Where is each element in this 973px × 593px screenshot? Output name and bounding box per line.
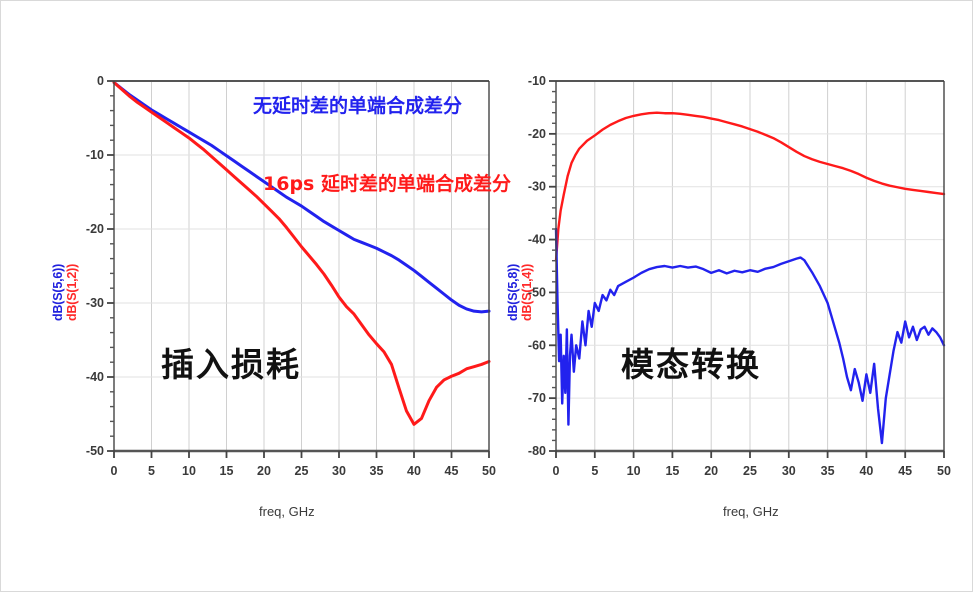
svg-text:35: 35 [370,464,384,478]
left-plot-caption: 插入损耗 [161,338,301,386]
right-x-axis-title: freq, GHz [723,504,779,519]
svg-text:-70: -70 [528,391,546,405]
svg-text:-20: -20 [86,222,104,236]
right-plot-area: -10-20-30-40-50-60-70-800510152025303540… [501,1,973,501]
svg-text:5: 5 [148,464,155,478]
right-plot-caption: 模态转换 [621,338,761,386]
svg-text:-30: -30 [86,296,104,310]
figure-root: dB(S(5,6)) dB(S(1,2)) 0-10-20-30-40-5005… [0,0,973,592]
svg-text:0: 0 [97,74,104,88]
svg-text:10: 10 [627,464,641,478]
svg-text:-60: -60 [528,338,546,352]
svg-text:20: 20 [704,464,718,478]
svg-text:0: 0 [111,464,118,478]
left-annotation-red: 16ps 延时差的单端合成差分 [263,169,511,196]
svg-text:40: 40 [407,464,421,478]
left-annotation-blue: 无延时差的单端合成差分 [253,91,462,118]
svg-text:-10: -10 [528,74,546,88]
svg-text:5: 5 [591,464,598,478]
chart-panel-mode-conversion: dB(S(5,8)) dB(S(1,4)) -10-20-30-40-50-60… [501,1,973,593]
svg-text:25: 25 [743,464,757,478]
svg-text:15: 15 [665,464,679,478]
svg-text:30: 30 [782,464,796,478]
svg-text:40: 40 [859,464,873,478]
svg-text:-50: -50 [528,285,546,299]
svg-text:45: 45 [898,464,912,478]
left-plot-area: 0-10-20-30-40-5005101520253035404550 [1,1,501,501]
svg-text:25: 25 [295,464,309,478]
mode-conversion-chart: -10-20-30-40-50-60-70-800510152025303540… [501,1,973,501]
svg-text:35: 35 [821,464,835,478]
svg-text:-40: -40 [528,233,546,247]
svg-text:45: 45 [445,464,459,478]
svg-text:0: 0 [553,464,560,478]
svg-text:50: 50 [937,464,951,478]
chart-panel-insertion-loss: dB(S(5,6)) dB(S(1,2)) 0-10-20-30-40-5005… [1,1,501,593]
svg-text:10: 10 [182,464,196,478]
svg-text:50: 50 [482,464,496,478]
left-x-axis-title: freq, GHz [259,504,315,519]
svg-text:-10: -10 [86,148,104,162]
svg-text:-30: -30 [528,180,546,194]
svg-text:20: 20 [257,464,271,478]
svg-text:-80: -80 [528,444,546,458]
svg-text:-20: -20 [528,127,546,141]
insertion-loss-chart: 0-10-20-30-40-5005101520253035404550 [1,1,501,501]
svg-text:30: 30 [332,464,346,478]
svg-text:-40: -40 [86,370,104,384]
svg-text:15: 15 [220,464,234,478]
svg-text:-50: -50 [86,444,104,458]
